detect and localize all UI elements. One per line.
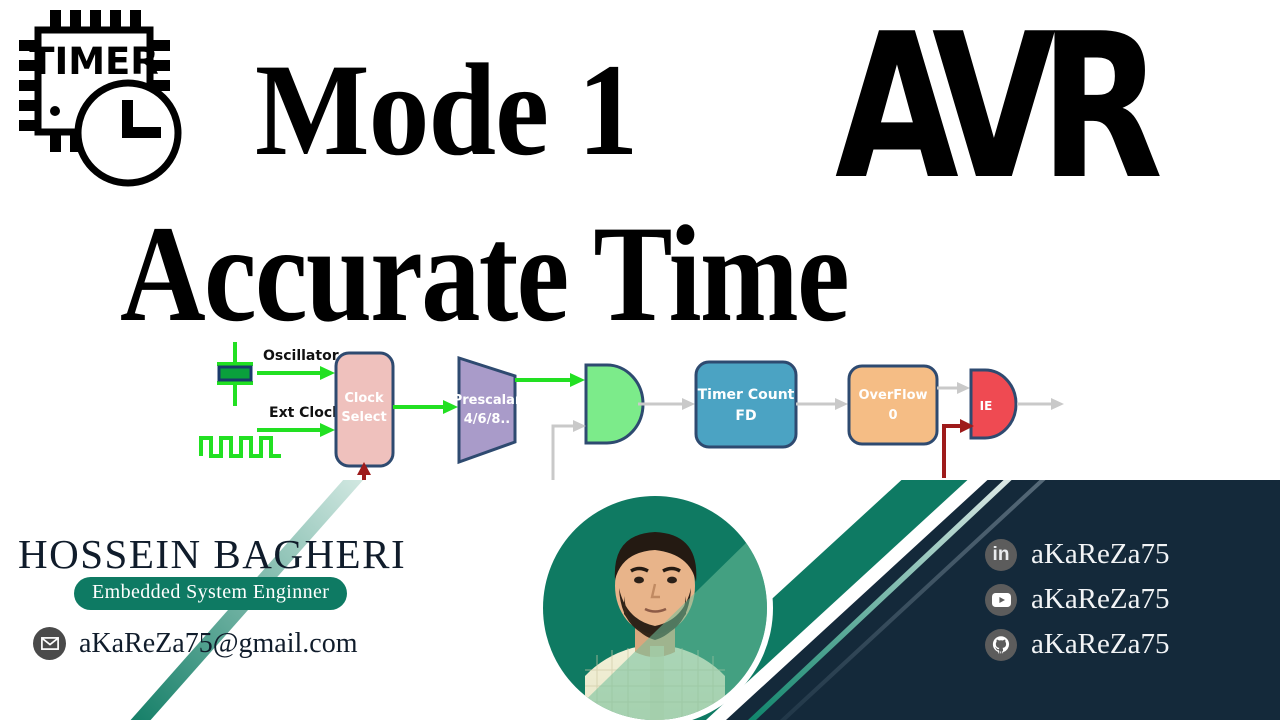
block-diagram-svg: Oscillator Ext Clock Clock Select ClockS… [195,338,1075,498]
youtube-icon [985,584,1017,616]
block-overflow-label-1: OverFlow [858,388,927,403]
social-link-linkedin[interactable]: in aKaReZa75 [985,538,1170,571]
timer-block-diagram: Oscillator Ext Clock Clock Select ClockS… [195,338,1075,498]
title-avr: AVR [835,8,1147,208]
footer-band: HOSSEIN BAGHERI Embedded System Enginner… [0,480,1280,720]
label-oscillator: Oscillator [263,348,339,364]
linkedin-glyph: in [993,545,1010,564]
person-role-badge: Embedded System Enginner [74,577,347,610]
email-row[interactable]: aKaReZa75@gmail.com [33,627,357,660]
block-clock-select-label-2: Select [341,410,386,425]
block-overflow-label-2: 0 [888,408,897,423]
block-overflow [849,366,937,444]
slide-canvas: TIMER Mode 1 AVR Accurate Time [0,0,1280,720]
crystal-body [219,367,251,380]
social-link-github[interactable]: aKaReZa75 [985,628,1170,661]
wire-timer-disabled [553,426,573,486]
block-prescalar-label-2: 4/6/8.. [464,412,511,427]
person-name: HOSSEIN BAGHERI [18,530,406,578]
block-and-gate [586,365,643,443]
github-handle: aKaReZa75 [1031,628,1170,661]
block-timer-count-label-2: FD [735,408,756,424]
timer-logo: TIMER [8,8,218,208]
email-text: aKaReZa75@gmail.com [79,628,357,660]
square-wave-icon [201,438,281,456]
envelope-icon [33,627,66,660]
block-ie-gate-label: IE [980,399,993,413]
block-ie-gate [971,370,1016,438]
social-link-youtube[interactable]: aKaReZa75 [985,583,1170,616]
block-timer-count-label-1: Timer Count [698,387,795,403]
block-clock-select-label-1: Clock [344,391,384,406]
title-line-1: Mode 1 AVR [255,22,1280,202]
linkedin-icon: in [985,539,1017,571]
timer-chip-clock-icon: TIMER [8,8,218,208]
linkedin-handle: aKaReZa75 [1031,538,1170,571]
title-accurate-time: Accurate Time [120,205,848,343]
title-line-2: Accurate Time [120,205,1220,340]
youtube-handle: aKaReZa75 [1031,583,1170,616]
chip-label: TIMER [29,40,159,83]
github-icon [985,629,1017,661]
title-mode: Mode 1 [255,44,637,176]
block-prescalar-label-1: Prescalar [453,393,522,408]
social-links: in aKaReZa75 aKaReZa75 [985,538,1170,661]
wire-interrupt-enable [944,426,960,478]
block-timer-count [696,362,796,447]
block-prescalar [459,358,515,462]
label-ext-clock: Ext Clock [269,405,342,421]
